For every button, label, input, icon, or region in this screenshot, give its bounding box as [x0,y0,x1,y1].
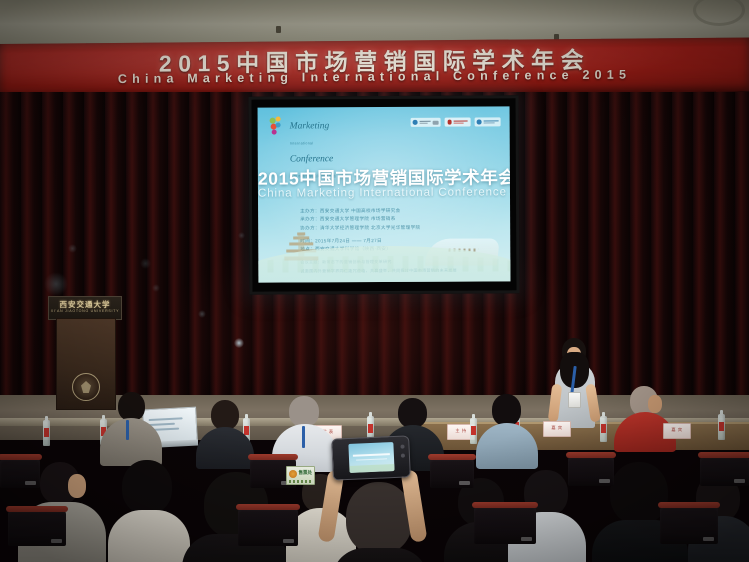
table-name-card: 嘉 宾 [663,423,691,439]
attendee-head [492,394,521,426]
auditorium-seat[interactable] [430,458,474,488]
auditorium-seat[interactable] [700,456,749,486]
lanyard-strap [302,426,305,448]
university-crest-icon [72,373,100,401]
volunteer-badge [568,392,581,408]
sign-underline [289,480,312,483]
seat-back-sign: 售票处 [286,466,315,485]
university-name-english: XI'AN JIAOTONG UNIVERSITY [49,309,121,313]
logo-line-1: Marketing [290,121,330,131]
conference-banner: 2015中国市场营销国际学术年会 China Marketing Interna… [0,37,749,98]
seat-row-front [0,506,749,546]
phone-button-icon[interactable] [400,445,404,449]
seated-attendee [100,392,162,462]
slide-content: Marketing International Conference 中国市场营… [258,106,511,282]
name-card-text: 嘉 宾 [664,427,690,433]
water-bottle [43,420,50,446]
table-name-card: 嘉 宾 [543,421,571,437]
water-bottle [600,416,607,442]
auditorium-seat[interactable] [474,506,536,544]
seat-row-back [0,456,749,490]
name-card-text: 嘉 宾 [544,425,570,431]
lectern-nameplate: 西安交通大学 XI'AN JIAOTONG UNIVERSITY [48,296,122,320]
conference-photo: 2015中国市场营销国际学术年会 China Marketing Interna… [0,0,749,562]
slide-scenery [258,217,510,282]
slide-title-english: China Marketing International Conference… [258,186,510,199]
photographer-torso [332,548,428,562]
logo-mark-icon [270,117,287,139]
water-bottle [718,414,725,440]
lanyard-strap [126,420,129,440]
seat-sign-label: 售票处 [299,470,313,476]
sponsor-logo-strip [410,117,501,126]
sponsor-logo-3 [474,117,501,126]
sign-emblem-icon [289,470,297,478]
sponsor-logo-2 [445,118,471,127]
projection-screen: Marketing International Conference 中国市场营… [248,95,519,294]
slide-detail-line: 主办方：西安交通大学 中国高校市场学研究会 [300,207,484,214]
attendee-head [398,398,427,428]
attendee-head [118,392,145,421]
logo-line-2: International [290,142,314,146]
seated-attendee [196,400,254,464]
auditorium-seat[interactable] [8,510,66,546]
auditorium-seat[interactable] [0,458,40,488]
auditorium-seat[interactable] [568,456,614,486]
auditorium-seat[interactable] [238,508,298,546]
logo-line-3: Conference [290,154,333,164]
auditorium-seat[interactable] [660,506,718,544]
ceiling-vent [693,0,745,26]
attendee-head [211,400,239,430]
delegate-face [648,395,662,413]
sponsor-logo-1 [410,118,441,127]
wall-hook [276,26,281,33]
attendee-head [289,396,319,427]
